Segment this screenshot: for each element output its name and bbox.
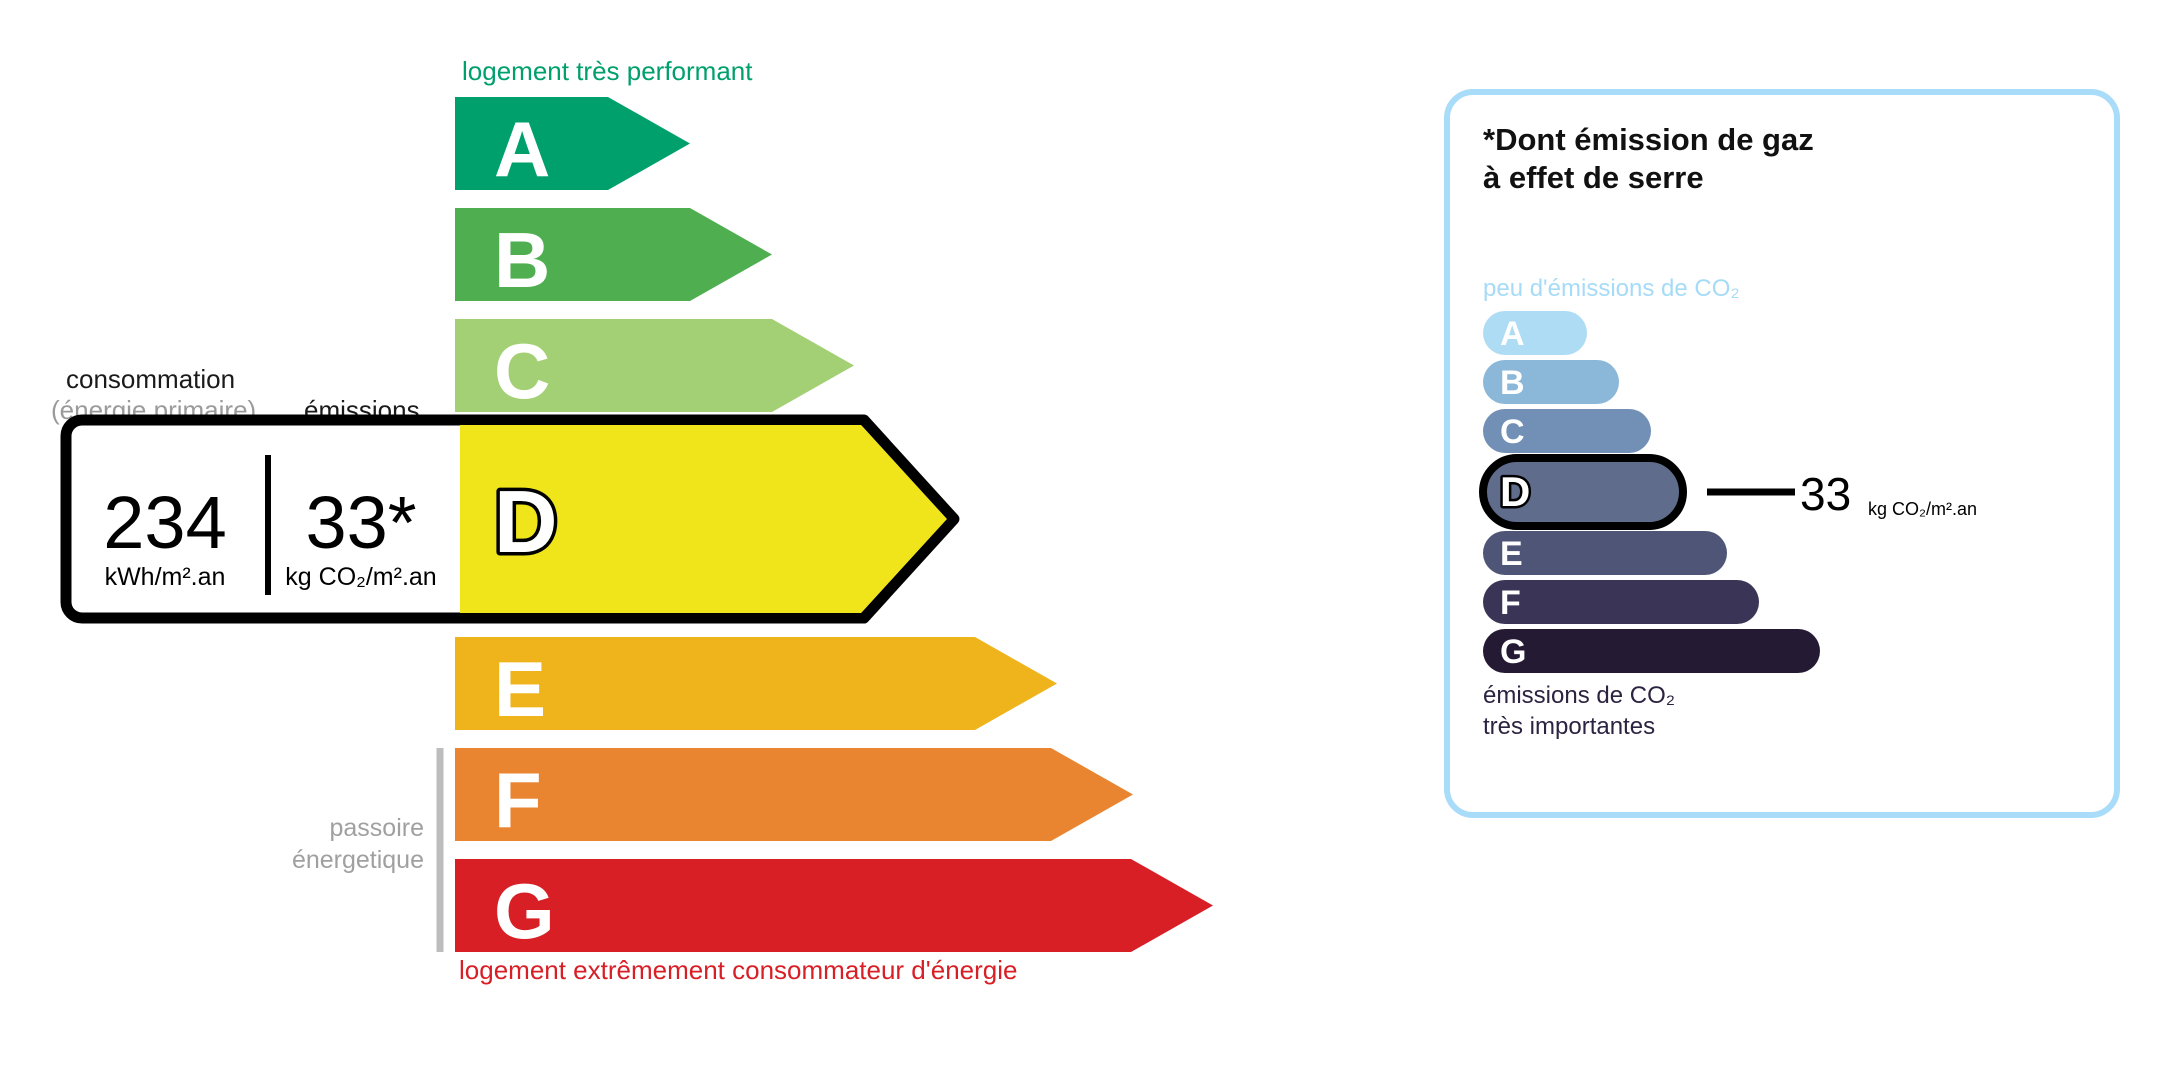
co2-bar-a-letter: A [1500, 315, 1525, 353]
co2-bar-f-shape [1483, 580, 1759, 624]
co2-bottom-label-line2: très importantes [1483, 713, 1655, 740]
energy-band-f: F [455, 748, 1133, 844]
co2-bar-d-letter: D [1500, 468, 1530, 515]
scale-top-label: logement très performant [462, 56, 753, 86]
co2-callout-value: 33 [1800, 468, 1851, 520]
co2-bar-e: E [1483, 531, 1727, 575]
co2-bar-g: G [1483, 629, 1820, 673]
emissions-unit: kg CO₂/m².an [285, 563, 436, 591]
emissions-value: 33* [305, 481, 416, 564]
energy-band-e: E [455, 637, 1057, 733]
energy-band-a-arrow [455, 97, 690, 190]
dpe-energy-label: logement très performant A B C consommat… [0, 0, 2169, 1079]
co2-panel-title-line2: à effet de serre [1483, 160, 1704, 195]
energy-band-f-arrow [455, 748, 1133, 841]
energy-band-g: G [455, 859, 1213, 955]
energy-band-a-letter: A [494, 105, 550, 193]
energy-band-g-letter: G [494, 867, 555, 955]
co2-top-label: peu d'émissions de CO₂ [1483, 275, 1740, 302]
energy-band-b: B [455, 208, 772, 304]
scale-bottom-label: logement extrêmement consommateur d'éner… [459, 955, 1017, 985]
co2-bar-e-letter: E [1500, 535, 1523, 573]
co2-bar-a: A [1483, 311, 1587, 355]
co2-bar-f-letter: F [1500, 584, 1521, 622]
co2-callout-unit: kg CO₂/m².an [1868, 499, 1977, 519]
energy-band-g-arrow [455, 859, 1213, 952]
co2-bar-b-letter: B [1500, 364, 1525, 402]
passoire-label-line2: énergetique [292, 846, 424, 874]
energy-band-b-letter: B [494, 216, 550, 304]
energy-band-f-letter: F [494, 756, 542, 844]
co2-bottom-label-line1: émissions de CO₂ [1483, 682, 1675, 709]
co2-bar-g-shape [1483, 629, 1820, 673]
energy-band-e-letter: E [494, 645, 546, 733]
passoire-label-line1: passoire [330, 814, 425, 842]
co2-bar-c: C [1483, 409, 1651, 453]
co2-panel: *Dont émission de gaz à effet de serre p… [1447, 92, 2117, 815]
co2-panel-title-line1: *Dont émission de gaz [1483, 122, 1814, 157]
consumption-unit: kWh/m².an [105, 563, 226, 591]
current-grade-row: 234 kWh/m².an 33* kg CO₂/m².an D [66, 420, 954, 618]
co2-bar-g-letter: G [1500, 633, 1526, 671]
co2-bar-b: B [1483, 360, 1619, 404]
energy-band-d-letter: D [494, 472, 558, 571]
consumption-value: 234 [103, 481, 226, 564]
energy-band-c-letter: C [494, 327, 550, 415]
energy-band-c: C [455, 319, 854, 415]
co2-bar-a-shape [1483, 311, 1587, 355]
co2-bar-c-letter: C [1500, 413, 1525, 451]
energy-band-a: A [455, 97, 690, 193]
co2-bar-f: F [1483, 580, 1759, 624]
consumption-heading: consommation [66, 364, 235, 394]
